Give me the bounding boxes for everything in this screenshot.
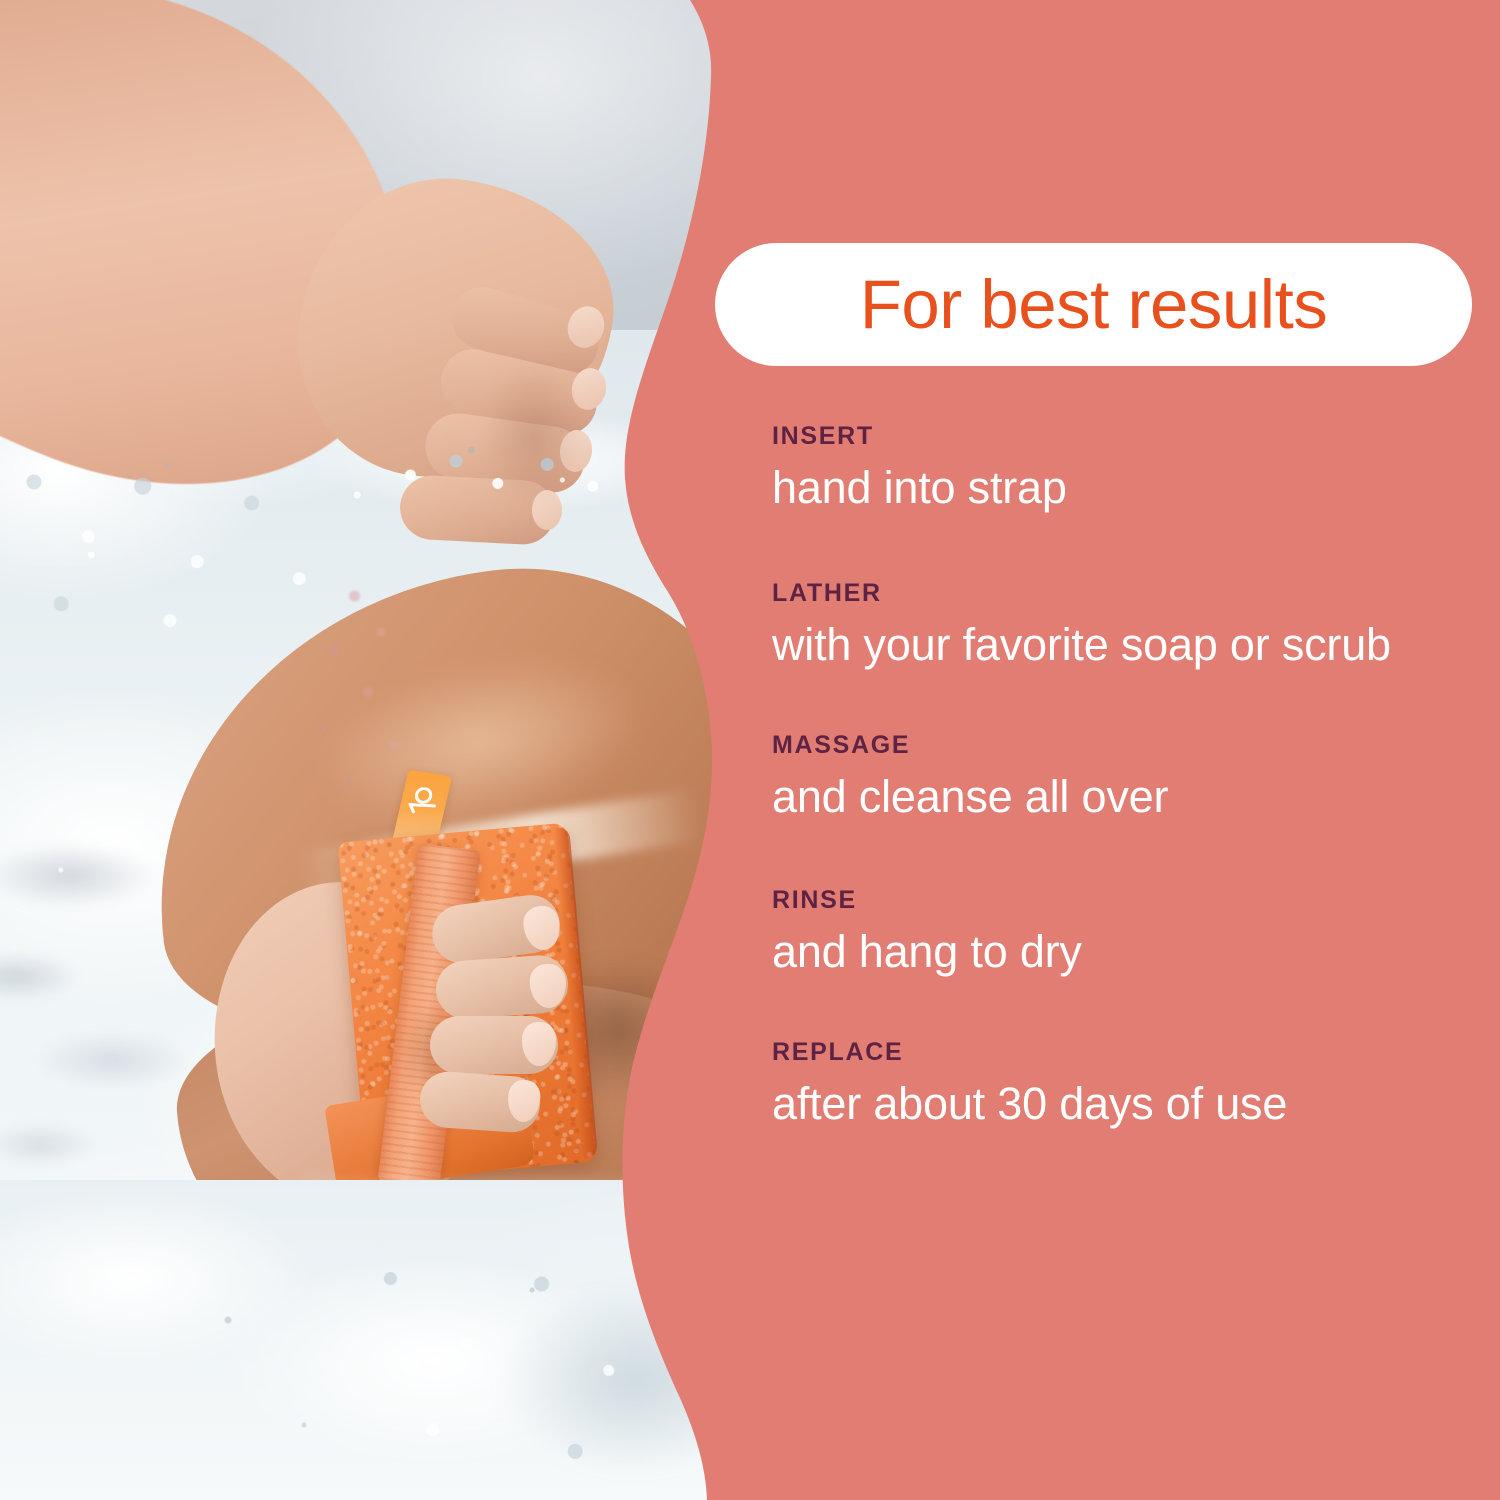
- spacer: [772, 671, 1500, 733]
- scattered-bubbles: [0, 0, 760, 1500]
- step-lather: LATHER with your favorite soap or scrub: [772, 581, 1500, 671]
- step-label: LATHER: [772, 581, 1500, 606]
- spacer: [772, 824, 1500, 888]
- step-rinse: RINSE and hang to dry: [772, 888, 1500, 978]
- steps-list: INSERT hand into strap LATHER with your …: [772, 424, 1500, 1130]
- lifestyle-photo: [0, 0, 760, 1500]
- step-label: REPLACE: [772, 1040, 1500, 1065]
- title-pill: For best results: [715, 243, 1472, 366]
- step-insert: INSERT hand into strap: [772, 424, 1500, 514]
- step-replace: REPLACE after about 30 days of use: [772, 1040, 1500, 1130]
- step-massage: MASSAGE and cleanse all over: [772, 733, 1500, 823]
- step-text: and cleanse all over: [772, 771, 1472, 823]
- step-text: hand into strap: [772, 462, 1472, 514]
- page-title: For best results: [860, 265, 1328, 344]
- step-text: and hang to dry: [772, 926, 1472, 978]
- step-label: MASSAGE: [772, 733, 1500, 758]
- product-infographic-canvas: For best results INSERT hand into strap …: [0, 0, 1500, 1500]
- step-text: after about 30 days of use: [772, 1078, 1472, 1130]
- step-text: with your favorite soap or scrub: [772, 619, 1472, 671]
- step-label: RINSE: [772, 888, 1500, 913]
- spacer: [772, 978, 1500, 1040]
- instructions-panel: For best results INSERT hand into strap …: [715, 0, 1500, 1500]
- spacer: [772, 514, 1500, 581]
- step-label: INSERT: [772, 424, 1500, 449]
